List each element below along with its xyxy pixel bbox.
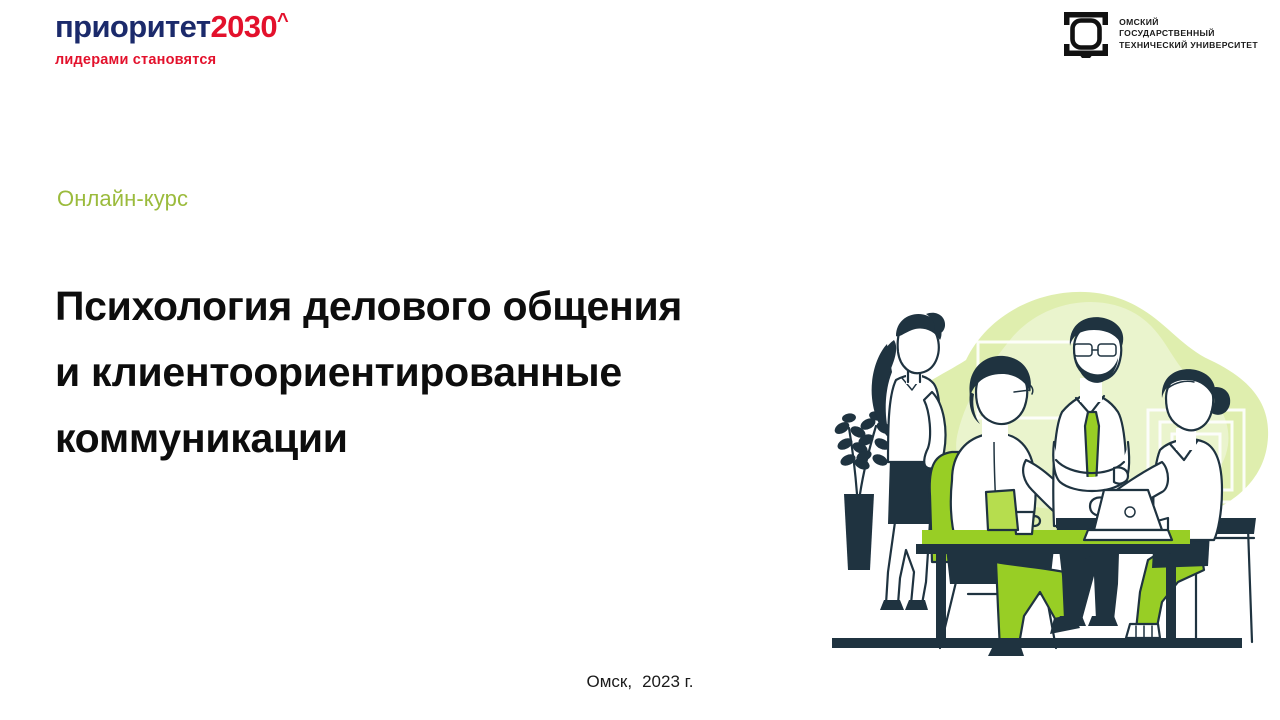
- page-title: Психология делового общения и клиентоори…: [55, 273, 855, 471]
- prioritet-word-red: 2030: [210, 9, 277, 44]
- footer-city: Омск,: [587, 672, 633, 691]
- title-line-2: и клиентоориентированные: [55, 339, 855, 405]
- omstu-name-text: ОМСКИЙ ГОСУДАРСТВЕННЫЙ ТЕХНИЧЕСКИЙ УНИВЕ…: [1119, 17, 1258, 51]
- course-type-label: Онлайн-курс: [57, 186, 188, 212]
- prioritet-2030-logo: приоритет2030^ лидерами становятся: [55, 10, 355, 72]
- prioritet-caret-icon: ^: [277, 10, 288, 32]
- footer-location: Омск,2023 г.: [0, 672, 1280, 692]
- slide-root: приоритет2030^ лидерами становятся: [0, 0, 1280, 720]
- omstu-line-2: ГОСУДАРСТВЕННЫЙ: [1119, 28, 1215, 38]
- prioritet-tagline: лидерами становятся: [55, 52, 355, 68]
- title-line-1: Психология делового общения: [55, 273, 855, 339]
- prioritet-word-blue: приоритет: [55, 9, 210, 44]
- footer-year: 2023 г.: [642, 672, 693, 691]
- tablet-document: [986, 490, 1018, 530]
- business-meeting-illustration: .ln { fill:none; stroke:#1f3340; stroke-…: [818, 232, 1280, 670]
- omstu-line-1: ОМСКИЙ: [1119, 17, 1159, 27]
- floor-line: [832, 638, 1242, 648]
- title-line-3: коммуникации: [55, 405, 855, 471]
- prioritet-wordmark: приоритет2030^: [55, 10, 355, 48]
- omstu-logo: ОМСКИЙ ГОСУДАРСТВЕННЫЙ ТЕХНИЧЕСКИЙ УНИВЕ…: [1062, 10, 1258, 58]
- omstu-emblem-icon: [1062, 10, 1110, 58]
- omstu-line-3: ТЕХНИЧЕСКИЙ УНИВЕРСИТЕТ: [1119, 40, 1258, 50]
